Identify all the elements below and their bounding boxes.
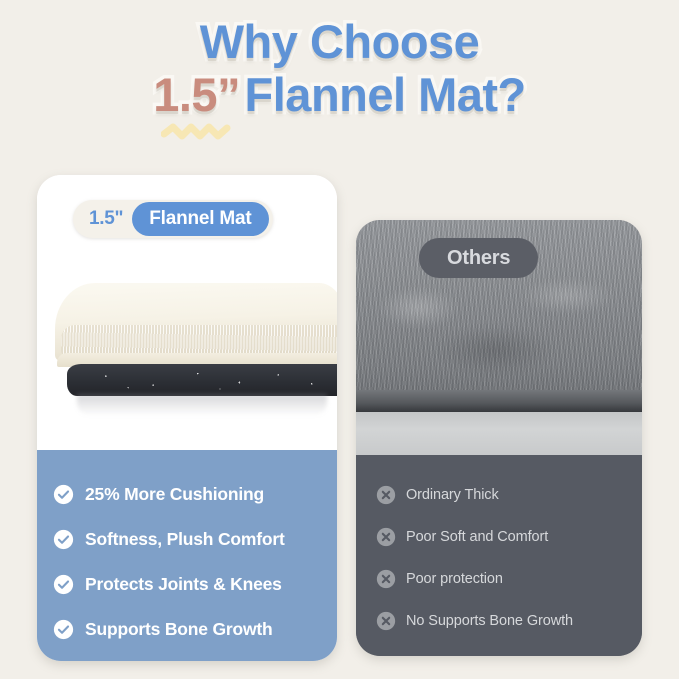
x-circle-icon: [376, 611, 396, 631]
badge-product-pill: Flannel Mat: [132, 202, 268, 236]
badge-measurement-label: 1.5": [89, 208, 123, 230]
x-circle-icon: [376, 569, 396, 589]
feature-label: Protects Joints & Knees: [85, 574, 282, 595]
mat-fuzz-texture: [61, 325, 337, 355]
drawback-row: No Supports Bone Growth: [376, 600, 642, 642]
feature-row: Supports Bone Growth: [53, 607, 337, 652]
product-card-others[interactable]: Others Ordinary Thick Poor Soft and Comf…: [356, 220, 642, 656]
feature-row: 25% More Cushioning: [53, 472, 337, 517]
drawback-row: Poor Soft and Comfort: [376, 516, 642, 558]
rug-edge: [356, 390, 642, 414]
flannel-mat-feature-panel: 25% More Cushioning Softness, Plush Comf…: [37, 450, 337, 661]
check-circle-icon: [53, 529, 74, 550]
drawback-label: Poor protection: [406, 571, 503, 587]
product-card-flannel-mat[interactable]: 1.5" Flannel Mat 25% More Cushioning Sof…: [37, 175, 337, 661]
others-drawback-panel: Ordinary Thick Poor Soft and Comfort Poo…: [356, 455, 642, 656]
rug-shading: [356, 260, 642, 380]
comparison-cards: 1.5" Flannel Mat 25% More Cushioning Sof…: [0, 0, 679, 679]
check-circle-icon: [53, 619, 74, 640]
x-circle-icon: [376, 485, 396, 505]
feature-row: Protects Joints & Knees: [53, 562, 337, 607]
drawback-label: Ordinary Thick: [406, 487, 499, 503]
check-circle-icon: [53, 574, 74, 595]
mat-speckled-base: [67, 364, 337, 396]
rug-floor: [356, 412, 642, 455]
mat-reflection: [77, 394, 327, 416]
drawback-label: Poor Soft and Comfort: [406, 529, 548, 545]
feature-label: Supports Bone Growth: [85, 619, 273, 640]
feature-row: Softness, Plush Comfort: [53, 517, 337, 562]
feature-label: 25% More Cushioning: [85, 484, 264, 505]
drawback-label: No Supports Bone Growth: [406, 613, 573, 629]
drawback-row: Ordinary Thick: [376, 474, 642, 516]
others-badge: Others: [419, 238, 538, 278]
drawback-row: Poor protection: [376, 558, 642, 600]
check-circle-icon: [53, 484, 74, 505]
feature-label: Softness, Plush Comfort: [85, 529, 285, 550]
x-circle-icon: [376, 527, 396, 547]
flannel-mat-badge: 1.5" Flannel Mat: [73, 200, 273, 238]
